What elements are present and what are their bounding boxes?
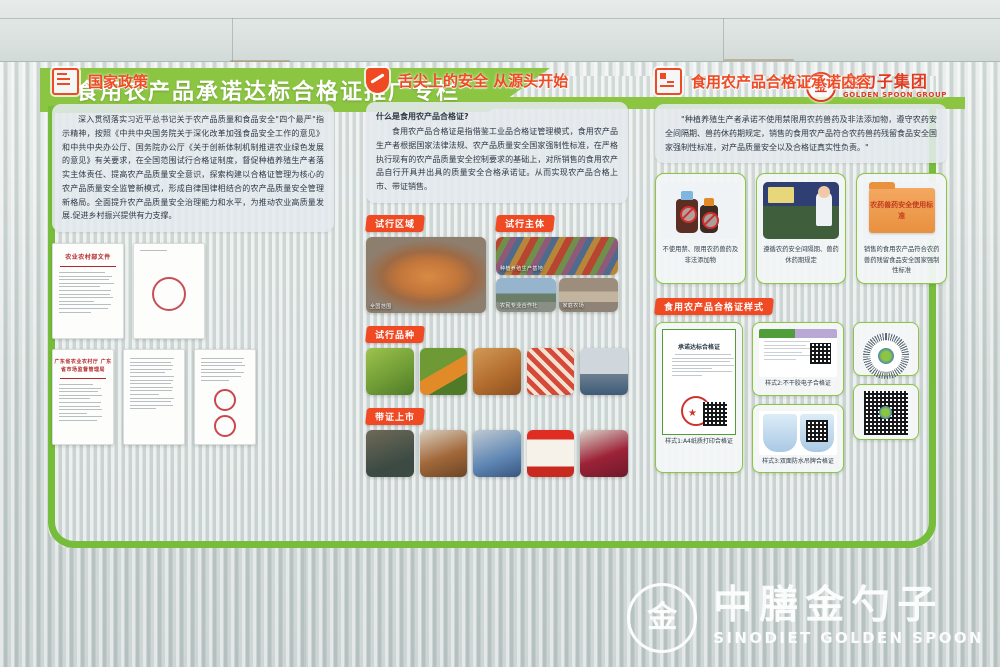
qr-code-icon	[810, 343, 831, 364]
document-title: 广东省农业农村厅 广东省市场监督管理局	[53, 359, 113, 374]
food-safety-body: 食用农产品合格证是指借鉴工业品合格证管理模式，食用农产品生产者根据国家法律法规、…	[376, 125, 618, 194]
section-national-policy: 国家政策 深入贯彻落实习近平总书记关于农产品质量和食品安全"四个最严"指示精神，…	[52, 68, 334, 455]
photo-market-4[interactable]	[527, 430, 575, 477]
photo-market-1[interactable]	[366, 430, 414, 477]
certificate-icon	[655, 68, 682, 95]
document-thumb[interactable]	[133, 243, 205, 339]
shield-icon	[366, 68, 389, 93]
badge-label: 食用农产品合格证样式	[664, 300, 764, 313]
tag-certificate-preview	[759, 411, 837, 455]
wall-rust-mark	[230, 60, 290, 62]
document-rule	[60, 378, 106, 379]
photo-mushroom[interactable]	[527, 348, 575, 395]
wall-rust-mark	[724, 59, 794, 61]
wall-seam	[0, 61, 1000, 62]
traceability-code-stack	[853, 322, 919, 473]
food-safety-question: 什么是食用农产品合格证?	[376, 111, 618, 122]
photo-market-3[interactable]	[473, 430, 521, 477]
promise-card[interactable]: 农药兽药安全使用标准 销售的食用农产品符合农药兽药残留食品安全国家强制性标准	[856, 173, 947, 284]
badge-label: 试行主体	[505, 217, 545, 230]
certificate-samples-row: 承诺达标合格证 ★ 样式1:A4纸质打印合格证	[655, 322, 947, 473]
national-emblem-icon	[152, 277, 186, 311]
photo-caption: 种植养殖生产基地	[500, 265, 543, 272]
qr-code-icon	[864, 391, 908, 435]
trial-overview-row: 试行区域 全国范围 试行主体 种植养殖生产基地 农民专业合作社 家庭农场	[366, 212, 628, 313]
qr-code-icon	[806, 420, 828, 442]
illustration-sign	[768, 187, 794, 203]
food-safety-textbox: 什么是食用农产品合格证? 食用农产品合格证是指借鉴工业品合格证管理模式，食用农产…	[366, 102, 628, 203]
badge-label: 试行区域	[375, 217, 415, 230]
promise-textbox: "种植养殖生产者承诺不使用禁限用农药兽药及非法添加物，遵守农药安全间隔期、兽药休…	[655, 104, 947, 163]
qr-code-icon	[703, 402, 727, 426]
national-policy-body: 深入贯彻落实习近平总书记关于农产品质量和食品安全"四个最严"指示精神，按照《中共…	[62, 113, 324, 223]
photo-caption: 家庭农场	[563, 302, 585, 309]
watermark-name-en: SINODIET GOLDEN SPOON	[713, 627, 984, 650]
certificate-sample-stack: 样式2:不干胶电子合格证 样式3:双面防水吊牌合格证	[752, 322, 844, 473]
certificate-sample-sticker[interactable]: 样式2:不干胶电子合格证	[752, 322, 844, 395]
national-policy-title: 国家政策	[88, 71, 148, 92]
folder-shape: 农药兽药安全使用标准	[869, 188, 935, 233]
promise-title: 食用农产品合格证承诺内容	[691, 71, 871, 92]
promise-card-caption: 销售的食用农产品符合农药兽药残留食品安全国家强制性标准	[863, 245, 940, 276]
promise-card-row: 不使用禁、限用农药兽药及非法添加物 遵循农药安全间隔期、兽药休药期规定 农药兽药…	[655, 173, 947, 284]
trial-region-group: 试行区域 全国范围	[366, 212, 486, 313]
badge-certified-market: 带证上市	[365, 408, 425, 425]
trial-subject-group: 试行主体 种植养殖生产基地 农民专业合作社 家庭农场	[496, 212, 618, 313]
document-thumb[interactable]: 广东省农业农村厅 广东省市场监督管理局	[52, 349, 114, 445]
promise-card[interactable]: 遵循农药安全间隔期、兽药休药期规定	[756, 173, 847, 284]
document-title: 农业农村部文件	[53, 253, 123, 262]
a4-certificate-title: 承诺达标合格证	[663, 342, 735, 351]
photo-farm-field[interactable]: 种植养殖生产基地	[496, 237, 618, 275]
pesticide-bottles-icon	[662, 182, 739, 239]
trial-subject-photo-row: 农民专业合作社 家庭农场	[496, 278, 618, 312]
section-promise-content: 食用农产品合格证承诺内容 "种植养殖生产者承诺不使用禁限用农药兽药及非法添加物，…	[655, 68, 947, 473]
document-text-lines	[195, 350, 255, 381]
certificate-sample-label: 样式3:双面防水吊牌合格证	[759, 458, 837, 466]
promise-body: "种植养殖生产者承诺不使用禁限用农药兽药及非法添加物，遵守农药安全间隔期、兽药休…	[665, 113, 937, 154]
photo-fruit[interactable]	[420, 348, 468, 395]
poster-scene: 食用农产品承诺达标合格证推广专栏 金 金勺子集团 GOLDEN SPOON GR…	[0, 0, 1000, 667]
certificate-sample-label: 样式1:A4纸质打印合格证	[662, 438, 736, 446]
inspector-illustration	[763, 182, 840, 239]
document-text-lines	[134, 244, 204, 251]
wall-seam	[0, 18, 1000, 19]
national-policy-textbox: 深入贯彻落实习近平总书记关于农产品质量和食品安全"四个最严"指示精神，按照《中共…	[52, 104, 334, 232]
document-thumb[interactable]	[194, 349, 256, 445]
photo-market-5[interactable]	[580, 430, 628, 477]
a4-certificate-preview: 承诺达标合格证 ★	[662, 329, 736, 435]
corner-watermark: 金 中膳金勺子 SINODIET GOLDEN SPOON	[627, 583, 984, 653]
document-seal-row	[195, 389, 255, 441]
document-text-lines	[53, 272, 123, 313]
photo-poultry[interactable]	[473, 348, 521, 395]
folder-label: 农药兽药安全使用标准	[869, 200, 935, 221]
certificate-sample-a4[interactable]: 承诺达标合格证 ★ 样式1:A4纸质打印合格证	[655, 322, 743, 473]
photo-cooperative[interactable]: 农民专业合作社	[496, 278, 556, 312]
wall-seam	[723, 18, 724, 62]
sticker-certificate-preview	[759, 329, 837, 377]
watermark-name-cn: 中膳金勺子	[713, 586, 984, 627]
photo-family-farm[interactable]: 家庭农场	[559, 278, 619, 312]
national-policy-heading: 国家政策	[52, 68, 334, 95]
promise-card-caption: 遵循农药安全间隔期、兽药休药期规定	[763, 245, 840, 266]
promise-heading: 食用农产品合格证承诺内容	[655, 68, 947, 95]
certificate-sample-tag[interactable]: 样式3:双面防水吊牌合格证	[752, 404, 844, 473]
photo-vegetable[interactable]	[366, 348, 414, 395]
wall-seam	[232, 18, 233, 62]
qr-traceability-code[interactable]	[853, 384, 919, 440]
certificate-samples-heading: 食用农产品合格证样式	[655, 295, 947, 315]
photo-trial-region-map[interactable]: 全国范围	[366, 237, 486, 313]
promise-card-caption: 不使用禁、限用农药兽药及非法添加物	[662, 245, 739, 266]
photo-aquaculture[interactable]	[580, 348, 628, 395]
circular-traceability-seal[interactable]	[853, 322, 919, 376]
official-seal-icon	[214, 415, 236, 437]
document-row: 农业农村部文件	[52, 243, 334, 339]
badge-certificate-samples: 食用农产品合格证样式	[654, 298, 774, 315]
document-thumb[interactable]	[123, 349, 185, 445]
badge-trial-region: 试行区域	[365, 215, 425, 232]
food-safety-heading: 舌尖上的安全 从源头开始	[366, 68, 628, 93]
certificate-sample-label: 样式2:不干胶电子合格证	[759, 380, 837, 388]
badge-label: 试行品种	[375, 328, 415, 341]
badge-trial-variety: 试行品种	[365, 326, 425, 343]
photo-caption: 农民专业合作社	[500, 302, 538, 309]
market-photo-row	[366, 430, 628, 477]
section-food-safety: 舌尖上的安全 从源头开始 什么是食用农产品合格证? 食用农产品合格证是指借鉴工业…	[366, 68, 628, 477]
tag-front-side	[763, 414, 797, 452]
watermark-mark-icon: 金	[627, 583, 697, 653]
official-seal-icon	[214, 389, 236, 411]
document-row: 广东省农业农村厅 广东省市场监督管理局	[52, 349, 334, 445]
promise-card[interactable]: 不使用禁、限用农药兽药及非法添加物	[655, 173, 746, 284]
qr-center-logo	[879, 406, 892, 419]
standard-folder-icon: 农药兽药安全使用标准	[863, 182, 940, 239]
document-text-lines	[53, 384, 113, 421]
badge-trial-subject: 试行主体	[495, 215, 555, 232]
traceability-seal-icon	[863, 333, 909, 379]
sticker-header-bar	[759, 329, 837, 338]
document-text-lines	[124, 350, 184, 409]
document-rule	[60, 266, 116, 267]
badge-label: 带证上市	[375, 410, 415, 423]
wall-upper-panels	[0, 0, 1000, 62]
photo-market-2[interactable]	[420, 430, 468, 477]
policy-document-gallery: 农业农村部文件 广东省农业农村厅 广东省市	[52, 243, 334, 445]
star-icon: ★	[688, 409, 697, 419]
trial-variety-group: 试行品种	[366, 323, 628, 395]
variety-photo-row	[366, 348, 628, 395]
tag-back-side	[800, 414, 834, 452]
document-icon	[52, 68, 79, 95]
food-safety-title: 舌尖上的安全 从源头开始	[398, 70, 568, 91]
document-thumb[interactable]: 农业农村部文件	[52, 243, 124, 339]
photo-caption: 全国范围	[370, 303, 392, 310]
certified-market-group: 带证上市	[366, 405, 628, 477]
